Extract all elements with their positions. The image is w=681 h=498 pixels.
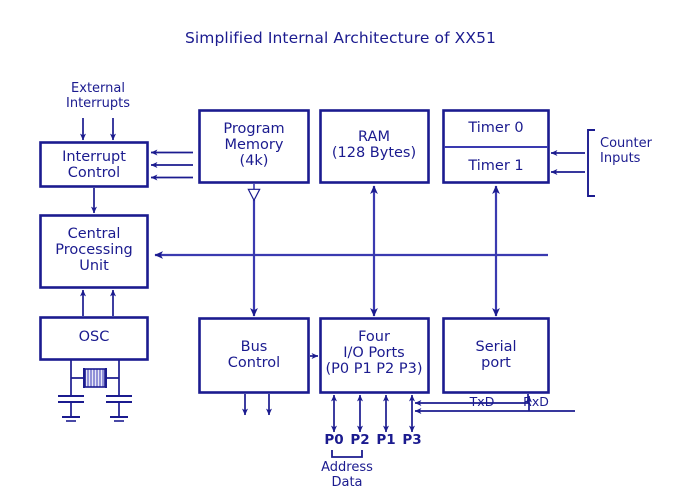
- address-data-bracket: [332, 450, 362, 457]
- block-label-ram: RAM (128 Bytes): [319, 129, 429, 161]
- counter-inputs-label: Counter Inputs: [600, 137, 680, 166]
- block-label-io-ports: Four I/O Ports (P0 P1 P2 P3): [318, 329, 430, 378]
- crystal-body: [85, 369, 105, 387]
- block-label-interrupt-control: Interrupt Control: [40, 149, 148, 181]
- external-interrupts-label: External Interrupts: [24, 82, 172, 111]
- architecture-diagram: Simplified Internal Architecture of XX51…: [0, 0, 681, 498]
- rxd-label: RxD: [516, 395, 556, 409]
- block-label-program-memory: Program Memory (4k): [199, 121, 309, 170]
- port-pin-label-p3: P3: [397, 433, 427, 448]
- txd-label: TxD: [462, 395, 502, 409]
- osc-crystal-network: [58, 360, 132, 421]
- block-label-central-processing-unit: Central Processing Unit: [40, 226, 148, 275]
- block-label-serial-port: Serial port: [443, 339, 549, 371]
- block-label-timer0: Timer 0: [443, 120, 549, 136]
- address-data-label: Address Data: [302, 461, 392, 490]
- block-label-bus-control: Bus Control: [199, 339, 309, 371]
- block-label-timer1: Timer 1: [443, 158, 549, 174]
- page-title: Simplified Internal Architecture of XX51: [0, 30, 681, 47]
- counter-inputs-bracket: [588, 130, 595, 196]
- block-label-osc: OSC: [40, 329, 148, 345]
